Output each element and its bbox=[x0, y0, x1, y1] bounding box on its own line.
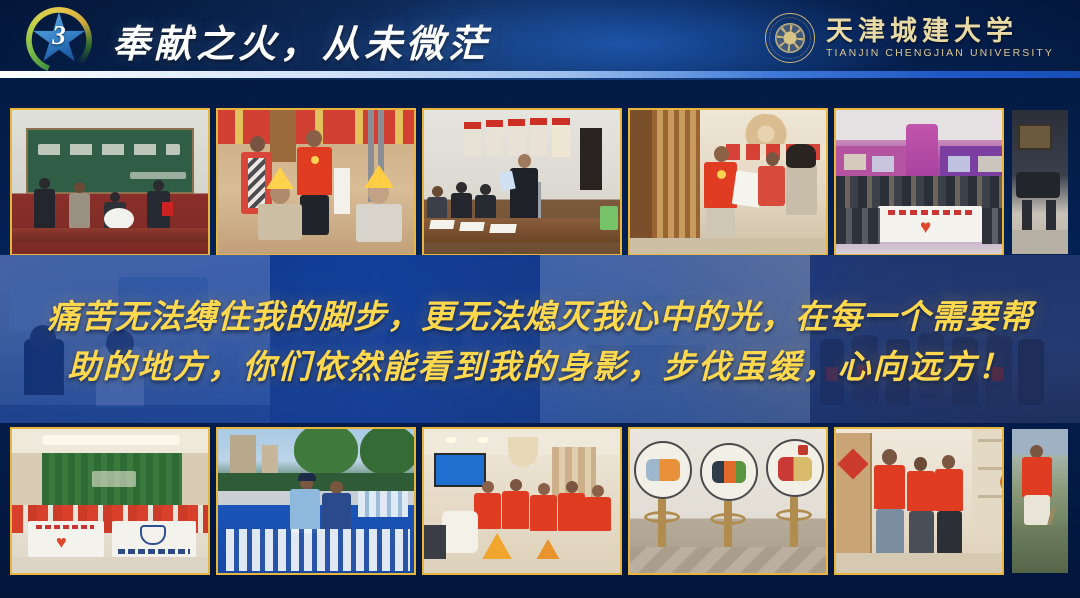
header-divider-stripe bbox=[0, 71, 1080, 78]
photo-scene: ♥ bbox=[836, 110, 1002, 254]
photo-scene bbox=[1012, 110, 1068, 254]
photo-elderly-birthday-party bbox=[216, 108, 416, 256]
photo-outdoor-water-station bbox=[216, 427, 416, 575]
photo-corridor-walking-group bbox=[834, 427, 1004, 575]
slide-body: ♥ bbox=[0, 80, 1080, 598]
photo-row-bottom: ♥ bbox=[10, 427, 1070, 575]
photo-lobby-interior-view bbox=[1010, 108, 1070, 256]
star-badge-icon: 3 bbox=[26, 7, 92, 73]
photo-scene bbox=[1012, 429, 1068, 573]
photo-scene bbox=[424, 110, 620, 254]
photo-scene bbox=[218, 110, 414, 254]
slide-header: 3 奉献之火，从未微茫 天津城建大学 TIANJIN CHENGJIAN UNI… bbox=[0, 0, 1080, 80]
badge-number: 3 bbox=[26, 20, 92, 51]
quote-text: 痛苦无法缚住我的脚步，更无法熄灭我心中的光，在每一个需要帮 助的地方，你们依然能… bbox=[0, 255, 1080, 423]
photo-doorway-gift-handover bbox=[628, 108, 828, 256]
page-title: 奉献之火，从未微茫 bbox=[112, 6, 490, 74]
photo-classroom-award-ceremony bbox=[10, 108, 210, 256]
photo-green-wall-group-photo: ♥ bbox=[10, 427, 210, 575]
photo-conference-room-speech bbox=[422, 108, 622, 256]
photo-scene: ♥ bbox=[12, 429, 208, 573]
university-name-en: TIANJIN CHENGJIAN UNIVERSITY bbox=[826, 48, 1054, 59]
photo-scene bbox=[630, 110, 826, 254]
photo-scene bbox=[424, 429, 620, 573]
quote-line-1: 痛苦无法缚住我的脚步，更无法熄灭我心中的光，在每一个需要帮 bbox=[47, 290, 1033, 338]
quote-band: 痛苦无法缚住我的脚步，更无法熄灭我心中的光，在每一个需要帮 助的地方，你们依然能… bbox=[0, 255, 1080, 423]
photo-indoor-celebration-cheer bbox=[422, 427, 622, 575]
slide-canvas: 3 奉献之火，从未微茫 天津城建大学 TIANJIN CHENGJIAN UNI… bbox=[0, 0, 1080, 598]
photo-scene bbox=[12, 110, 208, 254]
university-lockup: 天津城建大学 TIANJIN CHENGJIAN UNIVERSITY bbox=[765, 9, 1054, 67]
quote-line-2: 助的地方，你们依然能看到我的身影，步伐虽缓，心向远方！ bbox=[68, 340, 1013, 388]
university-text: 天津城建大学 TIANJIN CHENGJIAN UNIVERSITY bbox=[826, 18, 1054, 59]
photo-outdoor-cleanup-activity bbox=[1010, 427, 1070, 575]
photo-row-top: ♥ bbox=[10, 108, 1070, 256]
photo-scene bbox=[630, 429, 826, 573]
university-name-cn: 天津城建大学 bbox=[826, 18, 1054, 46]
photo-mall-group-banner-photo: ♥ bbox=[834, 108, 1004, 256]
photo-painted-fan-display bbox=[628, 427, 828, 575]
photo-scene bbox=[218, 429, 414, 573]
seal-core bbox=[775, 23, 805, 53]
university-seal-icon bbox=[765, 13, 815, 63]
photo-scene bbox=[836, 429, 1002, 573]
